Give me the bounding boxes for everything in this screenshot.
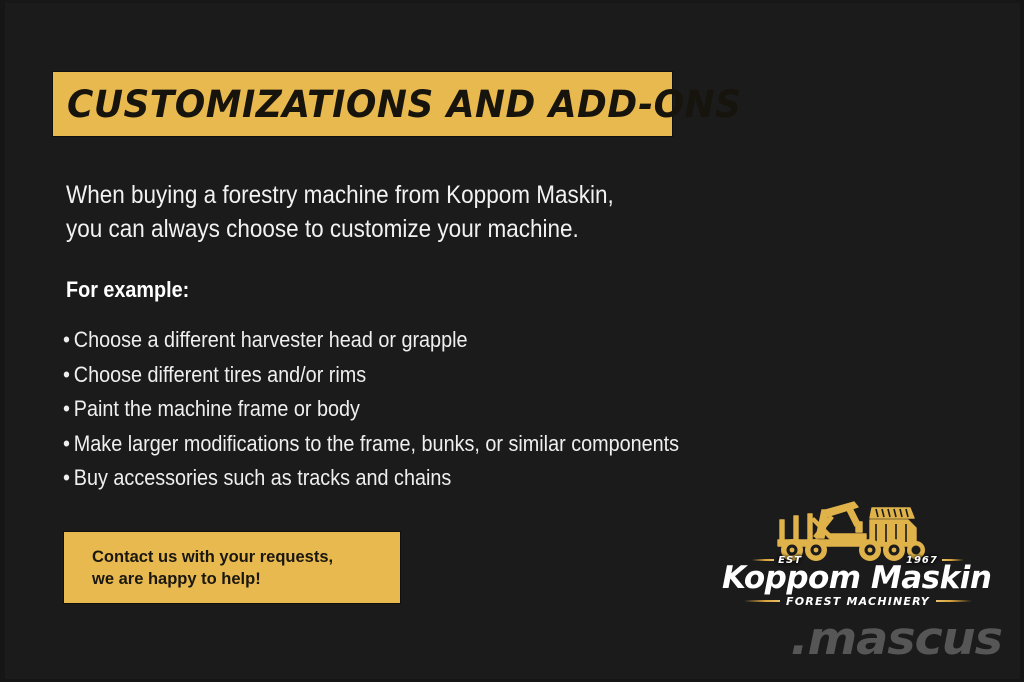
bullet-marker-icon: • <box>63 323 74 358</box>
list-item-label: Paint the machine frame or body <box>74 396 360 421</box>
header-banner: CUSTOMIZATIONS AND ADD-ONS <box>53 72 672 136</box>
bullet-marker-icon: • <box>63 392 74 427</box>
bullet-marker-icon: • <box>63 461 74 496</box>
page-title: CUSTOMIZATIONS AND ADD-ONS <box>67 83 742 126</box>
intro-line-1: When buying a forestry machine from Kopp… <box>66 178 696 212</box>
list-item-label: Choose a different harvester head or gra… <box>74 327 468 352</box>
list-item: •Buy accessories such as tracks and chai… <box>63 461 747 496</box>
logo-tagline-divider-left <box>744 600 780 602</box>
promo-slide: CUSTOMIZATIONS AND ADD-ONS When buying a… <box>0 0 1024 682</box>
bullet-marker-icon: • <box>63 427 74 462</box>
list-item: •Choose a different harvester head or gr… <box>63 323 747 358</box>
for-example-label: For example: <box>66 277 189 303</box>
list-item: •Choose different tires and/or rims <box>63 358 747 393</box>
logo-tagline-divider-right <box>936 600 972 602</box>
contact-line-1: Contact us with your requests, <box>92 546 400 568</box>
koppom-maskin-logo: EST 1967 Koppom Maskin FOREST MACHINERY <box>722 498 990 610</box>
list-item: •Paint the machine frame or body <box>63 392 747 427</box>
logo-company-name: Koppom Maskin <box>722 560 990 596</box>
bullet-marker-icon: • <box>63 358 74 393</box>
contact-line-2: we are happy to help! <box>92 568 400 590</box>
customization-bullet-list: •Choose a different harvester head or gr… <box>63 323 747 496</box>
intro-paragraph: When buying a forestry machine from Kopp… <box>66 178 696 246</box>
logo-tagline-row: FOREST MACHINERY <box>744 594 972 608</box>
list-item: •Make larger modifications to the frame,… <box>63 427 747 462</box>
list-item-label: Make larger modifications to the frame, … <box>74 431 679 456</box>
intro-line-2: you can always choose to customize your … <box>66 212 696 246</box>
list-item-label: Buy accessories such as tracks and chain… <box>74 465 451 490</box>
list-item-label: Choose different tires and/or rims <box>74 362 366 387</box>
logo-tagline: FOREST MACHINERY <box>786 595 930 608</box>
mascus-watermark: .mascus <box>737 612 1002 665</box>
contact-callout[interactable]: Contact us with your requests, we are ha… <box>64 532 400 603</box>
